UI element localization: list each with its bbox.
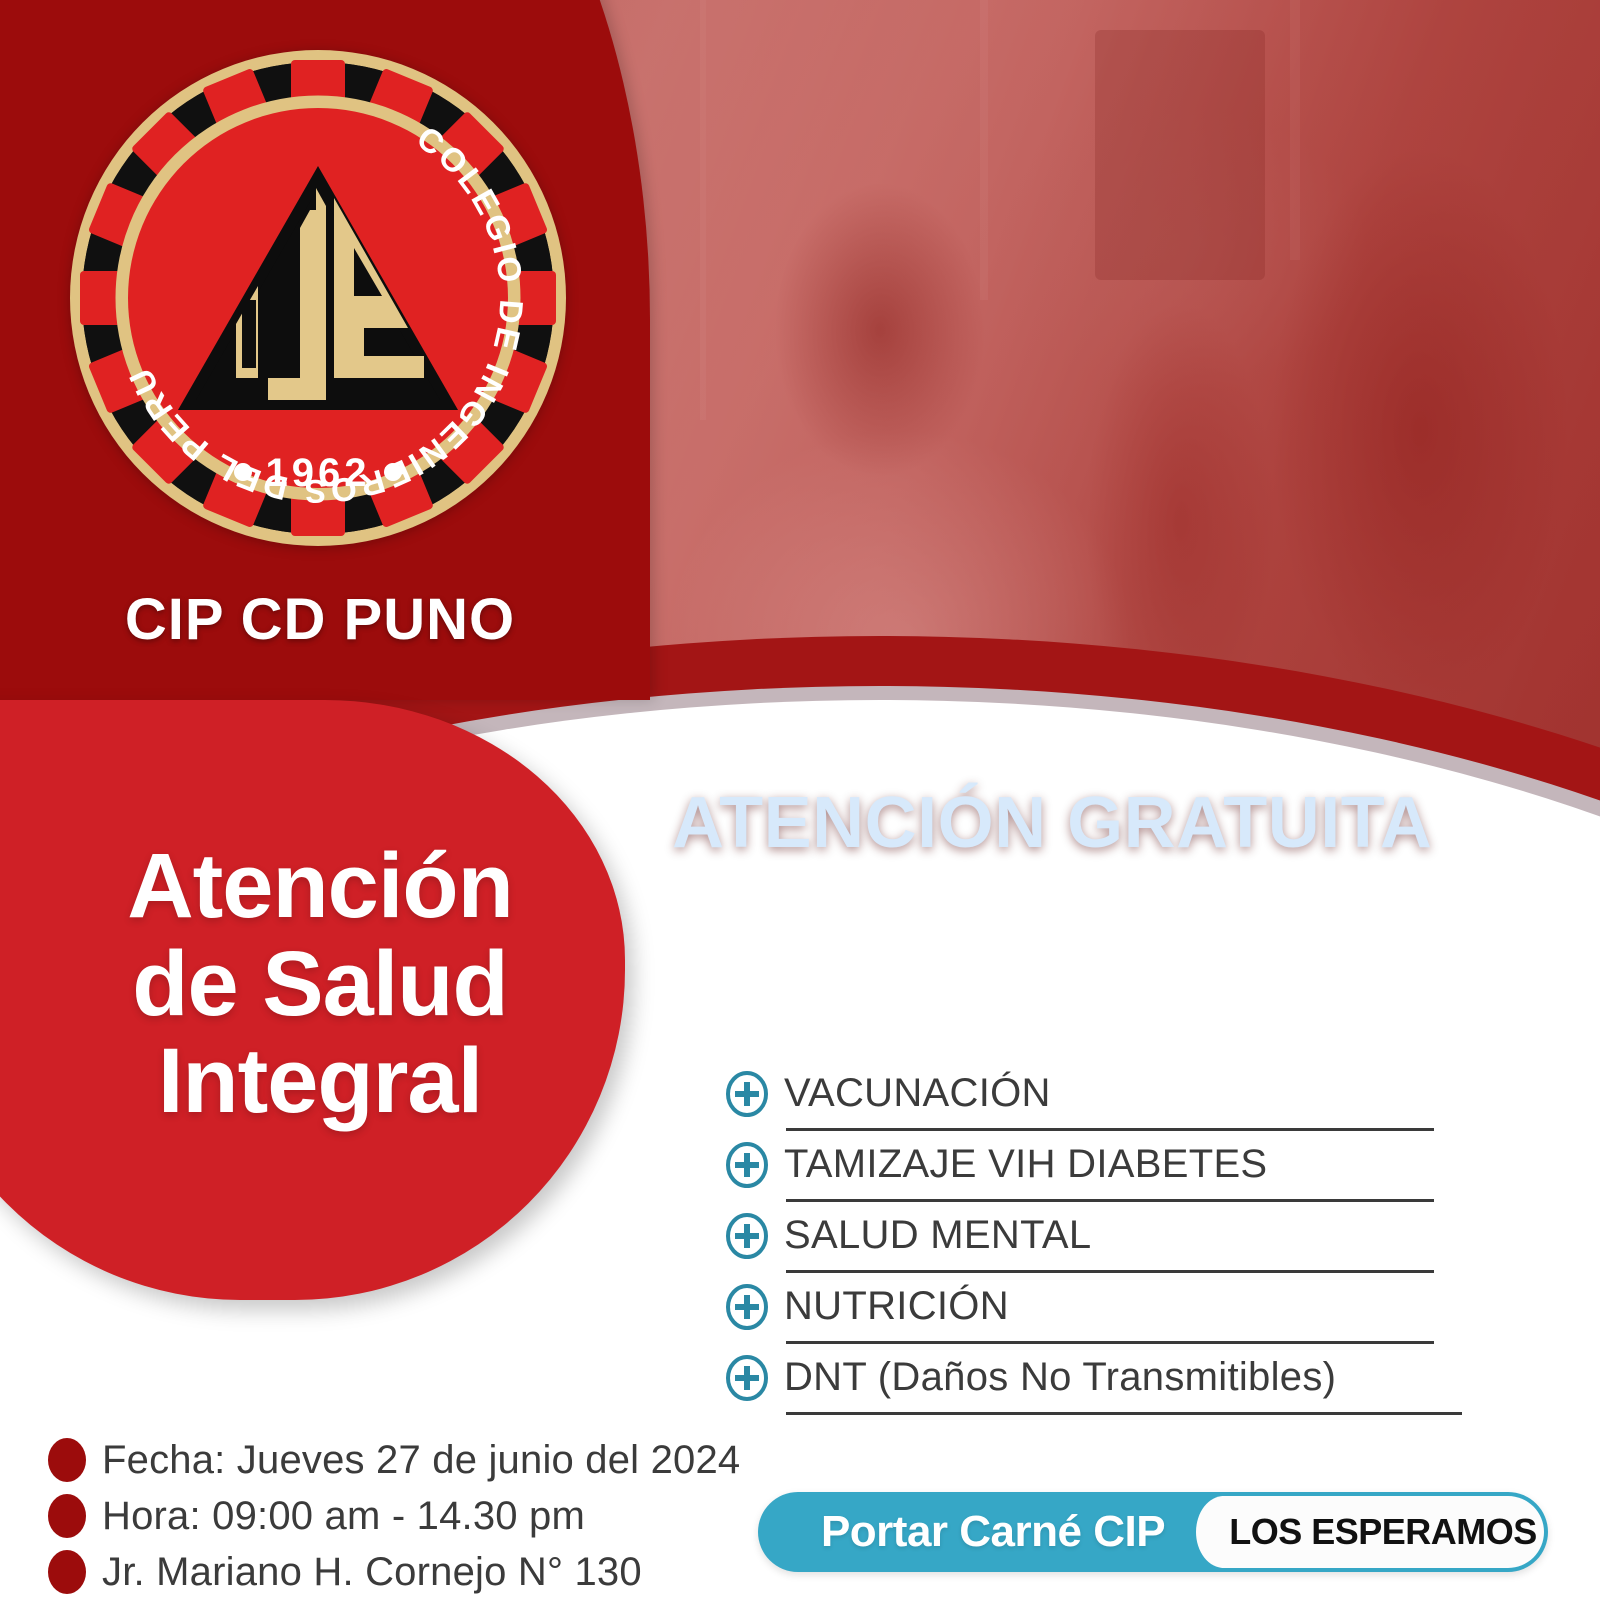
cta-primary-label: Portar Carné CIP [758,1507,1228,1557]
cta-bar[interactable]: Portar Carné CIP LOS ESPERAMOS [758,1492,1548,1572]
plus-circle-icon [724,1355,770,1401]
cta-pill-label: LOS ESPERAMOS [1229,1511,1537,1553]
service-label: TAMIZAJE VIH DIABETES [784,1142,1267,1187]
event-details: Fecha: Jueves 27 de junio del 2024 Hora:… [48,1432,708,1600]
cip-logo: COLEGIO DE INGENIEROS DEL PERU 1962 [58,38,578,558]
svg-text:1962: 1962 [266,451,371,495]
free-care-headline: ATENCIÓN GRATUITA [672,782,1432,864]
dot-bullet-icon [48,1550,86,1594]
dot-bullet-icon [48,1438,86,1482]
detail-row: Fecha: Jueves 27 de junio del 2024 [48,1432,708,1488]
detail-address: Jr. Mariano H. Cornejo N° 130 [102,1550,642,1595]
org-label: CIP CD PUNO [0,586,640,653]
plus-circle-icon [724,1213,770,1259]
detail-date: Fecha: Jueves 27 de junio del 2024 [102,1438,740,1483]
plus-circle-icon [724,1284,770,1330]
plus-circle-icon [724,1142,770,1188]
detail-row: Hora: 09:00 am - 14.30 pm [48,1488,708,1544]
services-list: VACUNACIÓN TAMIZAJE VIH DIABETES [724,1058,1424,1413]
dot-bullet-icon [48,1494,86,1538]
service-item: SALUD MENTAL [724,1200,1424,1271]
page-title-line-2: de Salud [40,936,600,1034]
cta-pill: LOS ESPERAMOS [1222,1496,1544,1568]
detail-row: Jr. Mariano H. Cornejo N° 130 [48,1544,708,1600]
service-item: TAMIZAJE VIH DIABETES [724,1129,1424,1200]
detail-time: Hora: 09:00 am - 14.30 pm [102,1494,585,1539]
service-item: DNT (Daños No Transmitibles) [724,1342,1424,1413]
service-label: SALUD MENTAL [784,1213,1091,1258]
poster-canvas: COLEGIO DE INGENIEROS DEL PERU 1962 CIP … [0,0,1600,1600]
page-title: Atención de Salud Integral [40,838,600,1131]
service-divider [786,1412,1462,1415]
page-title-line-1: Atención [40,838,600,936]
page-title-line-3: Integral [40,1033,600,1131]
plus-circle-icon [724,1071,770,1117]
service-label: VACUNACIÓN [784,1071,1051,1116]
service-item: NUTRICIÓN [724,1271,1424,1342]
service-label: NUTRICIÓN [784,1284,1009,1329]
service-label: DNT (Daños No Transmitibles) [784,1355,1336,1400]
service-item: VACUNACIÓN [724,1058,1424,1129]
